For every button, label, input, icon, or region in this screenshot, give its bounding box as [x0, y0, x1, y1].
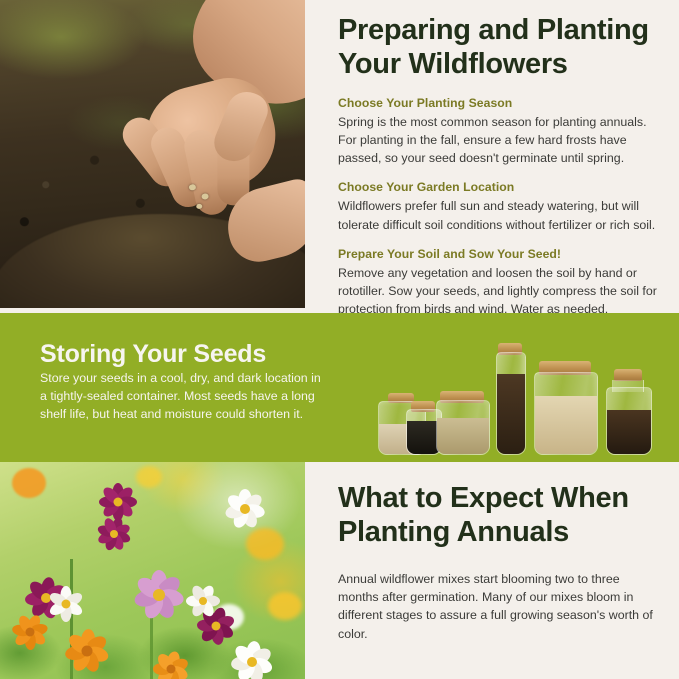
green-text-column: Storing Your Seeds Store your seeds in a…	[40, 340, 330, 424]
orange-flower	[62, 626, 112, 676]
orange-flower	[10, 612, 50, 652]
subheading: Prepare Your Soil and Sow Your Seed!	[338, 247, 663, 263]
info-block-planting-season: Choose Your Planting Season Spring is th…	[338, 96, 663, 168]
pink-flower	[130, 566, 188, 624]
top-text-column: Preparing and Planting Your Wildflowers …	[338, 14, 663, 318]
white-flower	[222, 486, 268, 532]
glass-body	[606, 387, 652, 455]
bokeh-flower	[268, 592, 302, 620]
magenta-flower	[94, 514, 134, 554]
glass-body	[496, 352, 526, 455]
seed-jar	[534, 361, 596, 455]
seed-jar	[496, 343, 524, 455]
seed-fill	[607, 410, 651, 454]
seed-jar	[406, 401, 440, 455]
glass-body	[436, 400, 490, 455]
bokeh-flower	[12, 468, 46, 498]
seed-fill	[535, 396, 597, 454]
white-flower	[184, 582, 222, 620]
body-text: Store your seeds in a cool, dry, and dar…	[40, 369, 330, 424]
info-block-garden-location: Choose Your Garden Location Wildflowers …	[338, 180, 663, 233]
body-text: Spring is the most common season for pla…	[338, 113, 663, 168]
section-title: Storing Your Seeds	[40, 340, 330, 369]
page-title: Preparing and Planting Your Wildflowers	[338, 14, 663, 82]
section-title: What to Expect When Planting Annuals	[338, 482, 663, 550]
bottom-text-column: What to Expect When Planting Annuals Ann…	[338, 482, 663, 643]
infographic-page: Preparing and Planting Your Wildflowers …	[0, 0, 679, 679]
glass-body	[534, 372, 598, 455]
white-flower	[228, 638, 276, 679]
body-text: Annual wildflower mixes start blooming t…	[338, 570, 663, 643]
bokeh-flower	[246, 528, 284, 560]
orange-flower	[150, 648, 192, 679]
section-what-to-expect: What to Expect When Planting Annuals Ann…	[0, 462, 679, 679]
wildflower-meadow-photo	[0, 462, 305, 679]
body-text: Remove any vegetation and loosen the soi…	[338, 264, 663, 319]
section-storing-your-seeds: Storing Your Seeds Store your seeds in a…	[0, 313, 679, 462]
seed-storage-jars-photo	[378, 329, 668, 455]
seed-fill	[437, 418, 489, 454]
info-block-prepare-soil: Prepare Your Soil and Sow Your Seed! Rem…	[338, 247, 663, 319]
seed-jar	[436, 391, 488, 455]
section-preparing-and-planting: Preparing and Planting Your Wildflowers …	[0, 0, 679, 313]
hand-sowing-seeds-photo	[0, 0, 305, 308]
seed-jar	[606, 369, 650, 455]
seed-fill	[497, 374, 525, 454]
subheading: Choose Your Planting Season	[338, 96, 663, 112]
body-text: Wildflowers prefer full sun and steady w…	[338, 197, 663, 233]
subheading: Choose Your Garden Location	[338, 180, 663, 196]
white-flower	[46, 584, 86, 624]
